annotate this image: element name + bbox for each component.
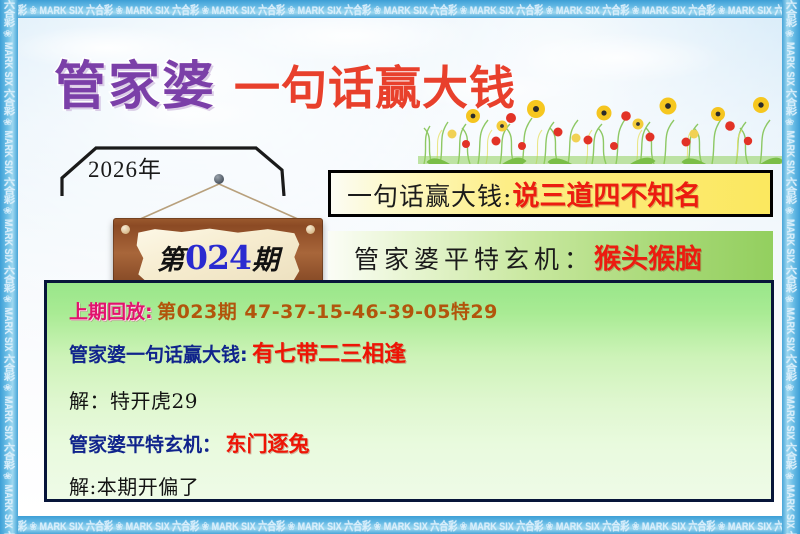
border-pattern-text: 六合彩 ❀ MARK SIX 六合彩 ❀ MARK SIX 六合彩 ❀ MARK… <box>0 517 800 533</box>
highlight-box-phrase: 一句话赢大钱:说三道四不知名 <box>328 170 773 217</box>
highlight-secret-value: 猴头猴脑 <box>594 244 702 275</box>
issue-suffix: 期 <box>252 245 279 276</box>
border-pattern-text: 六合彩 ❀ MARK SIX 六合彩 ❀ MARK SIX 六合彩 ❀ MARK… <box>783 0 799 534</box>
brand-title: 管家婆 <box>54 44 216 119</box>
replay-title: 上期回放: <box>69 301 153 323</box>
highlight-phrase-value: 说三道四不知名 <box>512 181 701 212</box>
highlight-secret-label: 管家婆平特玄机： <box>354 245 594 274</box>
border-band-top: 六合彩 ❀ MARK SIX 六合彩 ❀ MARK SIX 六合彩 ❀ MARK… <box>0 0 800 18</box>
issue-number-text: 第024期 <box>157 241 279 274</box>
panel-row-value: 东门逐兔 <box>225 432 309 456</box>
issue-number: 024 <box>184 238 252 277</box>
panel-row-label: 管家婆一句话赢大钱: <box>69 344 248 366</box>
panel-row-label: 管家婆平特玄机： <box>69 434 221 456</box>
history-panel: 上期回放: 第023期 47-37-15-46-39-05特29 管家婆一句话赢… <box>44 280 774 502</box>
masthead-slogan: 一句话赢大钱 <box>234 52 516 118</box>
panel-row-label: 解：特开虎29 <box>69 389 198 413</box>
masthead: 管家婆 一句话赢大钱 <box>54 44 516 119</box>
plaque-paper: 第024期 <box>135 228 301 286</box>
replay-row: 上期回放: 第023期 47-37-15-46-39-05特29 <box>47 297 771 324</box>
panel-row: 管家婆平特玄机： 东门逐兔 <box>47 428 771 458</box>
border-pattern-text: 六合彩 ❀ MARK SIX 六合彩 ❀ MARK SIX 六合彩 ❀ MARK… <box>0 1 800 17</box>
poster-card: 管家婆 一句话赢大钱 2026年 第024期 <box>18 18 782 516</box>
panel-row: 解：特开虎29 <box>47 385 771 414</box>
panel-row: 管家婆一句话赢大钱: 有七带二三相逢 <box>47 336 771 368</box>
border-band-right: 六合彩 ❀ MARK SIX 六合彩 ❀ MARK SIX 六合彩 ❀ MARK… <box>782 0 800 534</box>
highlight-phrase-label: 一句话赢大钱: <box>347 182 512 211</box>
plaque-nail-icon <box>214 174 224 184</box>
highlight-secret-inner: 管家婆平特玄机：猴头猴脑 <box>328 237 702 276</box>
border-pattern-text: 六合彩 ❀ MARK SIX 六合彩 ❀ MARK SIX 六合彩 ❀ MARK… <box>1 0 17 534</box>
highlight-phrase-inner: 一句话赢大钱:说三道四不知名 <box>331 174 701 213</box>
highlight-box-secret: 管家婆平特玄机：猴头猴脑 <box>328 231 773 281</box>
issue-prefix: 第 <box>157 245 184 276</box>
panel-row-value: 有七带二三相逢 <box>252 342 406 367</box>
panel-row: 解:本期开偏了 <box>47 471 771 500</box>
border-band-bottom: 六合彩 ❀ MARK SIX 六合彩 ❀ MARK SIX 六合彩 ❀ MARK… <box>0 516 800 534</box>
panel-row-label: 解:本期开偏了 <box>69 475 199 499</box>
border-band-left: 六合彩 ❀ MARK SIX 六合彩 ❀ MARK SIX 六合彩 ❀ MARK… <box>0 0 18 534</box>
poster-canvas: 六合彩 ❀ MARK SIX 六合彩 ❀ MARK SIX 六合彩 ❀ MARK… <box>0 0 800 534</box>
replay-draw-numbers: 第023期 47-37-15-46-39-05特29 <box>157 301 498 323</box>
